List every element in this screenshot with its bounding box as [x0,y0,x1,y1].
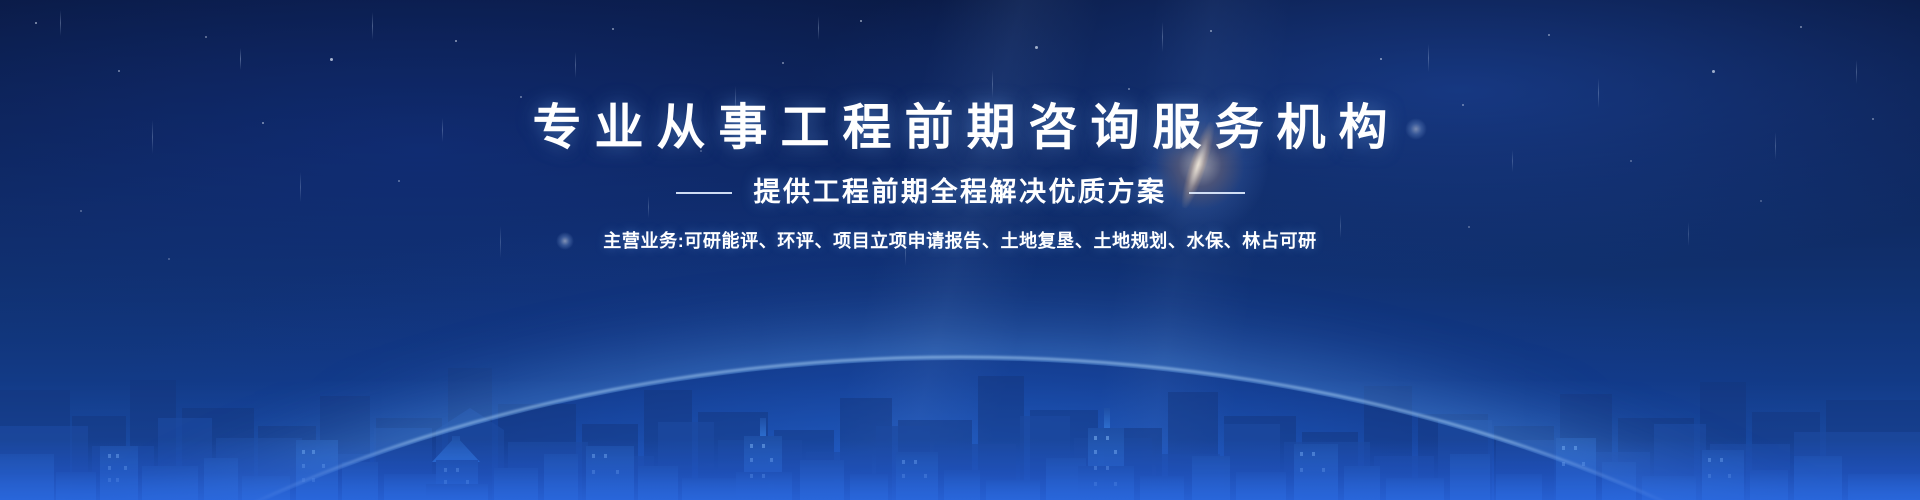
bottom-glow-fade [0,440,1920,500]
business-scope-text: 主营业务:可研能评、环评、项目立项申请报告、土地复垦、土地规划、水保、林占可研 [0,232,1920,250]
page-title: 专业从事工程前期咨询服务机构 [0,104,1920,153]
subtitle-row: 提供工程前期全程解决优质方案 [0,179,1920,206]
banner-copy: 专业从事工程前期咨询服务机构 提供工程前期全程解决优质方案 主营业务:可研能评、… [0,104,1920,250]
horizontal-rule-left-icon [676,192,732,194]
horizontal-rule-right-icon [1189,192,1245,194]
city-skyline-mid [0,240,1920,500]
city-skyline-far [0,240,1920,500]
banner-subtitle: 提供工程前期全程解决优质方案 [754,179,1167,206]
city-skyline-near [0,240,1920,500]
hero-banner: 专业从事工程前期咨询服务机构 提供工程前期全程解决优质方案 主营业务:可研能评、… [0,0,1920,500]
glowing-horizon-arc [0,360,1920,500]
horizon-arc-edge [0,356,1920,500]
